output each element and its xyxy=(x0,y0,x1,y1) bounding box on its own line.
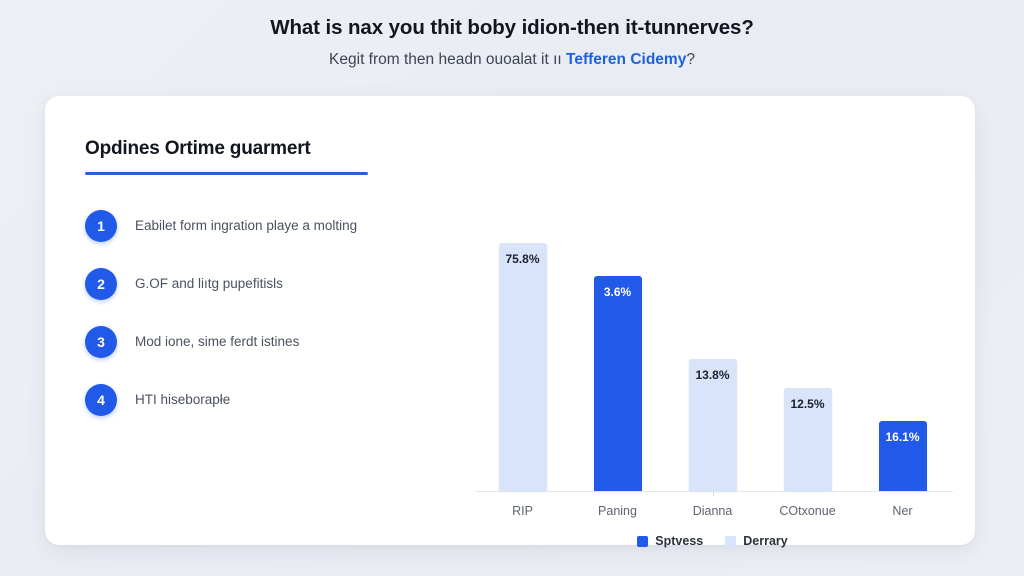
list-item-label: HTI hiseborapłe xyxy=(135,391,230,409)
x-axis-labels: RIP Paning Dianna COtxonue Ner xyxy=(475,491,950,518)
list-item[interactable]: 2 G.OF and liıtg pupefitisls xyxy=(85,267,425,301)
subtitle-prefix: Kegit from then headn ouoalat it ıı xyxy=(329,51,566,68)
chart-bar[interactable]: 16.1% xyxy=(879,421,927,491)
left-panel: Opdines Ortime guarmert 1 Eabilet form i… xyxy=(85,138,425,441)
subtitle-suffix: ? xyxy=(686,51,695,68)
list-item-badge: 3 xyxy=(85,326,117,358)
list-item-badge: 4 xyxy=(85,384,117,416)
list-item[interactable]: 3 Mod ione, sime ferdt istines xyxy=(85,325,425,359)
bar-value-label: 75.8% xyxy=(499,252,547,266)
list-item-badge: 2 xyxy=(85,268,117,300)
x-axis-tick: Paning xyxy=(570,491,665,518)
x-axis-tick-label: RIP xyxy=(512,504,533,518)
chart-bars: 75.8% 3.6% 13.8% 12.5% 16.1% xyxy=(475,194,950,491)
bar-value-label: 12.5% xyxy=(784,397,832,411)
list-item[interactable]: 1 Eabilet form ingration playе a molting xyxy=(85,209,425,243)
legend-item[interactable]: Sptvess xyxy=(637,534,703,548)
list-item-badge: 1 xyxy=(85,210,117,242)
chart-bar[interactable]: 13.8% xyxy=(689,359,737,491)
x-axis-tick-label: Paning xyxy=(598,504,637,518)
page-header: What is nax you thit boby idion-then it-… xyxy=(0,0,1024,72)
chart-bar[interactable]: 3.6% xyxy=(594,276,642,491)
x-axis-tick-label: Ner xyxy=(892,504,912,518)
legend-item[interactable]: Derrary xyxy=(725,534,787,548)
content-card: Opdines Ortime guarmert 1 Eabilet form i… xyxy=(45,96,975,545)
bar-slot: 12.5% xyxy=(760,194,855,491)
legend-swatch-icon xyxy=(637,536,648,547)
x-axis-tick: RIP xyxy=(475,491,570,518)
heading-underline xyxy=(85,172,368,175)
legend-label: Sptvess xyxy=(655,534,703,548)
bar-value-label: 3.6% xyxy=(594,285,642,299)
list-item[interactable]: 4 HTI hiseborapłe xyxy=(85,383,425,417)
bar-slot: 3.6% xyxy=(570,194,665,491)
bar-slot: 16.1% xyxy=(855,194,950,491)
x-axis-tick-label: COtxonue xyxy=(779,504,835,518)
chart-bar[interactable]: 75.8% xyxy=(499,243,547,491)
x-axis-tick: Ner xyxy=(855,491,950,518)
panel-heading: Opdines Ortime guarmert xyxy=(85,138,425,160)
list-item-label: G.OF and liıtg pupefitisls xyxy=(135,275,283,293)
numbered-list: 1 Eabilet form ingration playе a molting… xyxy=(85,209,425,417)
bar-slot: 75.8% xyxy=(475,194,570,491)
chart-legend: Sptvess Derrary xyxy=(475,534,950,548)
list-item-label: Mod ione, sime ferdt istines xyxy=(135,333,299,351)
bar-value-label: 16.1% xyxy=(879,430,927,444)
bar-chart: 75.8% 3.6% 13.8% 12.5% 16.1% xyxy=(430,136,950,516)
subtitle-link[interactable]: Tefferen Cidemy xyxy=(566,51,686,68)
legend-label: Derrary xyxy=(743,534,787,548)
chart-bar[interactable]: 12.5% xyxy=(784,388,832,491)
bar-slot: 13.8% xyxy=(665,194,760,491)
x-axis-tick: COtxonue xyxy=(760,491,855,518)
bar-value-label: 13.8% xyxy=(689,368,737,382)
page-subtitle: Kegit from then headn ouoalat it ıı Teff… xyxy=(0,48,1024,72)
page-title: What is nax you thit boby idion-then it-… xyxy=(0,14,1024,42)
x-axis-tick-label: Dianna xyxy=(693,504,733,518)
legend-swatch-icon xyxy=(725,536,736,547)
list-item-label: Eabilet form ingration playе a molting xyxy=(135,217,357,235)
